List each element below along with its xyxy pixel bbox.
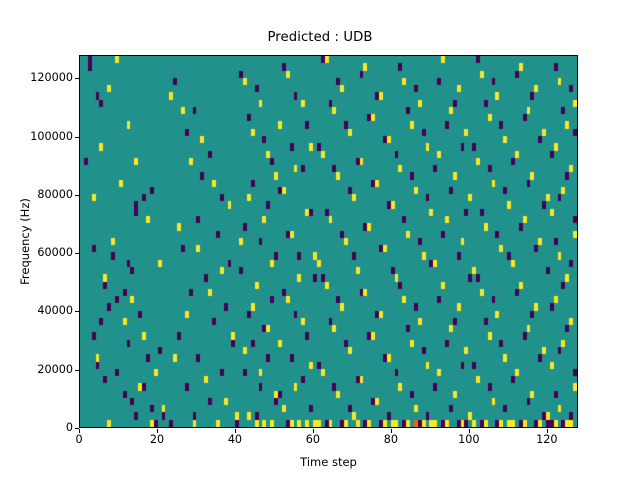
x-tick-label: 40 bbox=[215, 433, 255, 446]
x-tick-label: 20 bbox=[137, 433, 177, 446]
x-tick-label: 100 bbox=[449, 433, 489, 446]
y-tick-mark bbox=[75, 195, 79, 196]
x-tick-mark bbox=[547, 429, 548, 433]
y-tick-label: 40000 bbox=[3, 304, 73, 318]
x-tick-label: 0 bbox=[59, 433, 99, 446]
y-tick-label: 120000 bbox=[3, 71, 73, 85]
y-tick-mark bbox=[75, 78, 79, 79]
y-tick-mark bbox=[75, 370, 79, 371]
x-tick-mark bbox=[79, 429, 80, 433]
y-tick-label: 80000 bbox=[3, 188, 73, 202]
y-axis-ticks: 020000400006000080000100000120000 bbox=[0, 0, 73, 480]
heatmap-image bbox=[80, 56, 577, 427]
x-tick-mark bbox=[235, 429, 236, 433]
x-tick-mark bbox=[313, 429, 314, 433]
y-tick-label: 100000 bbox=[3, 130, 73, 144]
y-tick-mark bbox=[75, 253, 79, 254]
x-tick-label: 120 bbox=[527, 433, 567, 446]
y-tick-mark bbox=[75, 137, 79, 138]
x-tick-label: 60 bbox=[293, 433, 333, 446]
page-title: Predicted : UDB bbox=[0, 30, 640, 45]
x-tick-mark bbox=[157, 429, 158, 433]
y-axis-label: Frequency (Hz) bbox=[18, 55, 34, 428]
x-tick-label: 80 bbox=[371, 433, 411, 446]
y-tick-mark bbox=[75, 311, 79, 312]
y-tick-label: 60000 bbox=[3, 246, 73, 260]
y-tick-label: 20000 bbox=[3, 363, 73, 377]
x-axis-label: Time step bbox=[79, 455, 578, 469]
heatmap-axes[interactable] bbox=[79, 55, 578, 428]
x-tick-mark bbox=[391, 429, 392, 433]
figure-canvas: Predicted : UDB 020000400006000080000100… bbox=[0, 0, 640, 480]
x-tick-mark bbox=[469, 429, 470, 433]
